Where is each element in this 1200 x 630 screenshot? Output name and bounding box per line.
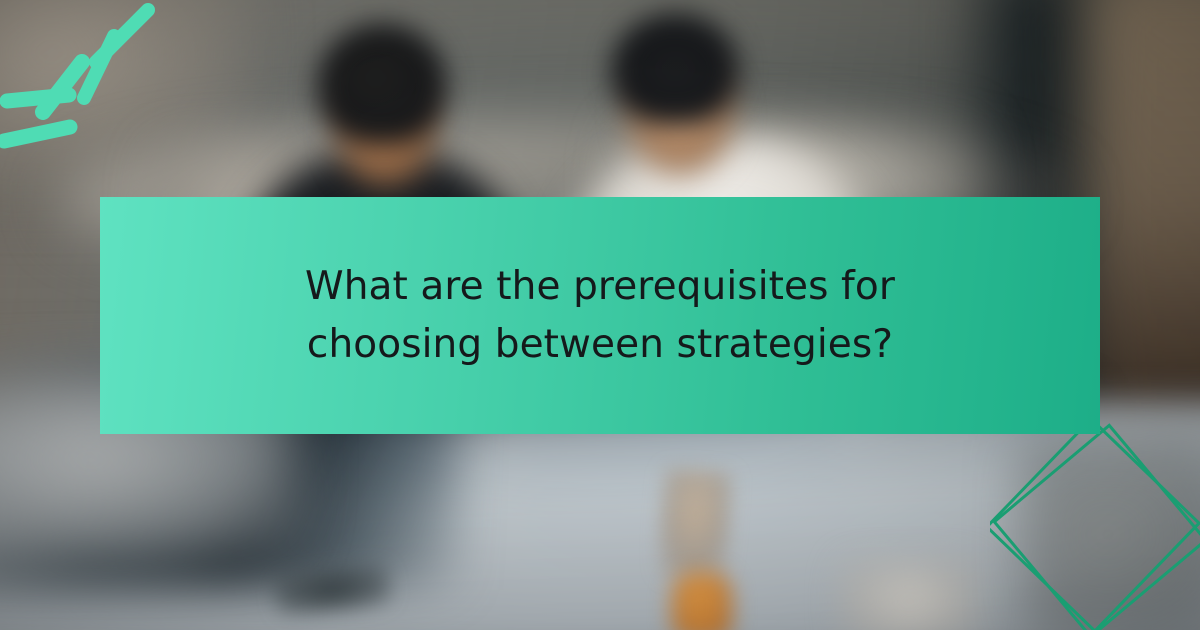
question-title: What are the prerequisites for choosing … [250, 258, 950, 374]
sunburst-stroke-5 [4, 127, 70, 141]
screenshot-canvas: What are the prerequisites for choosing … [0, 0, 1200, 630]
rotated-squares-icon [990, 415, 1200, 630]
question-banner: What are the prerequisites for choosing … [100, 197, 1100, 434]
decorative-square-2 [994, 425, 1200, 630]
sunburst-stroke-2 [84, 36, 114, 98]
sunburst-icon [0, 0, 200, 170]
decorative-square-1 [990, 419, 1199, 630]
sunburst-stroke-4 [7, 95, 69, 101]
sunburst-stroke-3 [43, 62, 82, 112]
